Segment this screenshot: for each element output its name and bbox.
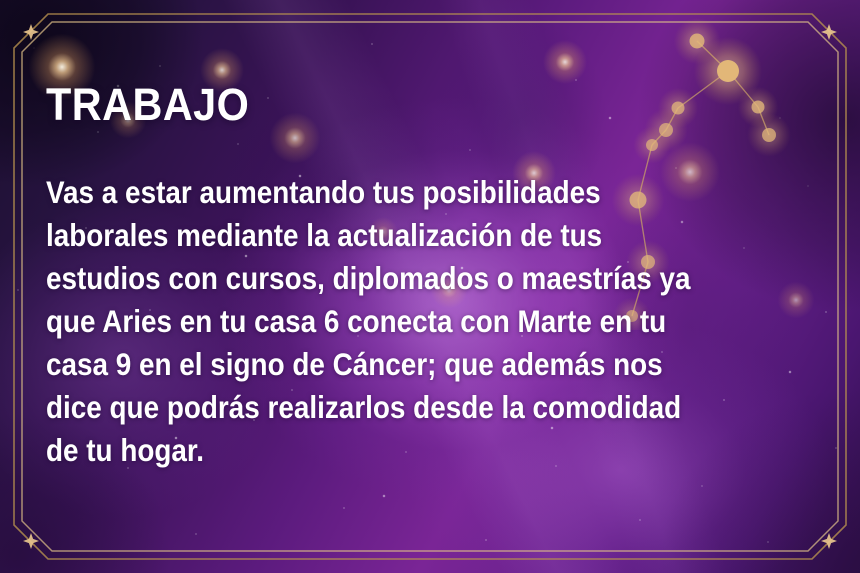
constellation-star-0 [690,34,705,49]
constellation-line [697,41,728,71]
section-title: TRABAJO [46,82,764,127]
sparkle-top-left-icon [23,24,39,40]
horoscope-card: TRABAJO Vas a estar aumentando tus posib… [0,0,860,573]
horoscope-body-text: Vas a estar aumentando tus posibilidades… [46,171,825,472]
card-content: TRABAJO Vas a estar aumentando tus posib… [46,82,826,472]
sparkle-top-right-icon [821,24,837,40]
constellation-star-1 [717,60,739,82]
sparkle-bottom-right-icon [821,533,837,549]
sparkle-bottom-left-icon [23,533,39,549]
glow-star-5 [540,37,590,87]
constellation-star-halo-0 [674,18,721,65]
